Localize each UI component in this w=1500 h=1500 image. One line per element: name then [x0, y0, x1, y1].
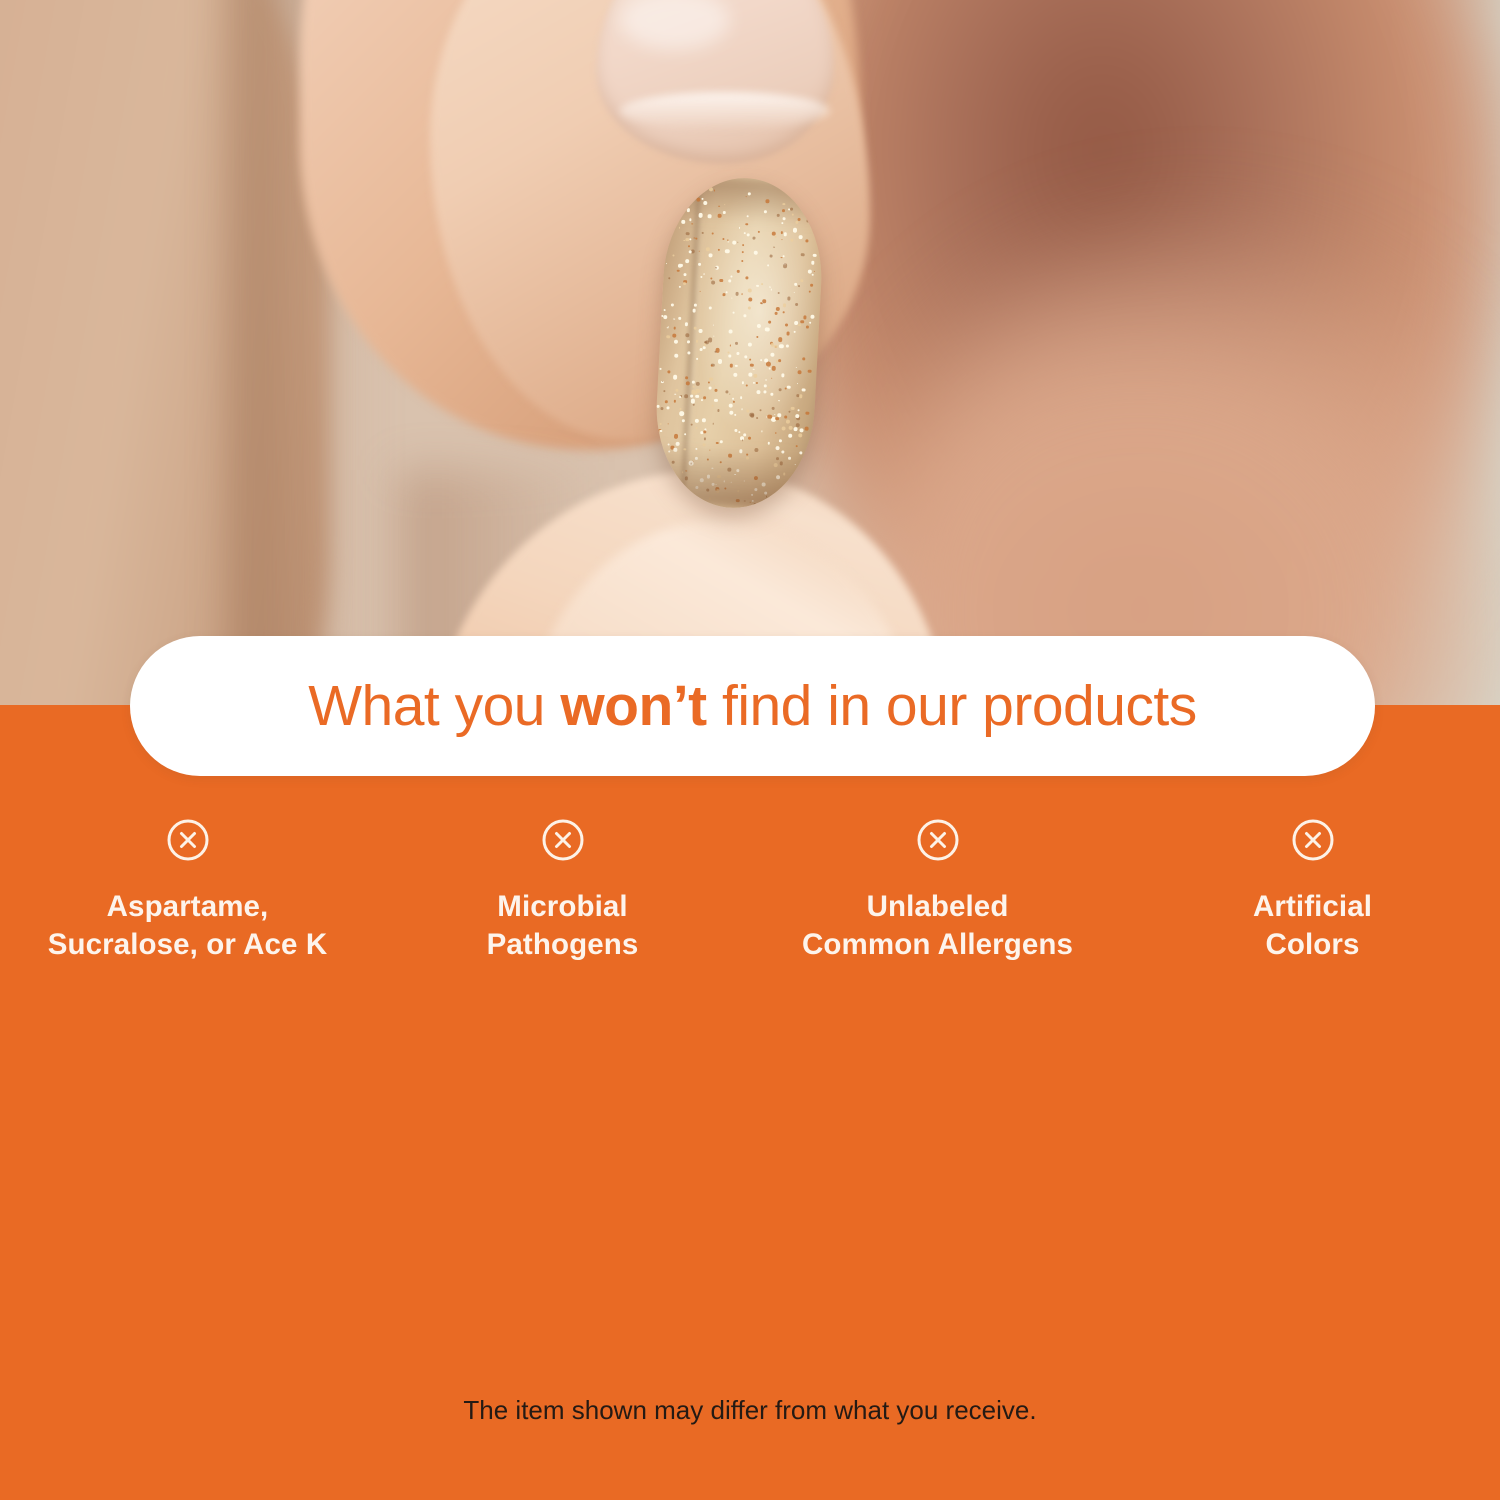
exclusions-grid: Aspartame,Sucralose, or Ace KMicrobialPa…	[0, 818, 1500, 1008]
exclusion-item: ArtificialColors	[1125, 818, 1500, 996]
disclaimer: The item shown may differ from what you …	[0, 1395, 1500, 1426]
exclusions-row: Aspartame,Sucralose, or Ace KMicrobialPa…	[0, 818, 1500, 1008]
page-title: What you won’t find in our products	[308, 673, 1197, 739]
supplement-tablet	[651, 174, 826, 512]
title-part-before: What you	[308, 674, 560, 738]
exclusion-item: UnlabeledCommon Allergens	[750, 818, 1125, 996]
tablet-bottom-shading	[651, 442, 812, 512]
exclusion-icon-wrap	[541, 818, 585, 862]
exclusion-item-label: ArtificialColors	[1253, 888, 1372, 964]
circle-x-icon	[916, 818, 960, 862]
circle-x-icon	[541, 818, 585, 862]
exclusion-icon-wrap	[166, 818, 210, 862]
title-card: What you won’t find in our products	[130, 636, 1375, 776]
photo-fingernail-edge	[620, 92, 830, 130]
title-emphasis: won’t	[560, 674, 706, 738]
exclusion-icon-wrap	[1291, 818, 1335, 862]
exclusion-item-label: UnlabeledCommon Allergens	[802, 888, 1073, 964]
exclusion-item: Aspartame,Sucralose, or Ace K	[0, 818, 375, 996]
exclusion-item-label: MicrobialPathogens	[487, 888, 639, 964]
product-photo	[0, 0, 1500, 712]
circle-x-icon	[166, 818, 210, 862]
exclusion-icon-wrap	[916, 818, 960, 862]
exclusion-item-label: Aspartame,Sucralose, or Ace K	[48, 888, 328, 964]
title-part-after: find in our products	[707, 674, 1197, 738]
exclusion-item: MicrobialPathogens	[375, 818, 750, 996]
circle-x-icon	[1291, 818, 1335, 862]
